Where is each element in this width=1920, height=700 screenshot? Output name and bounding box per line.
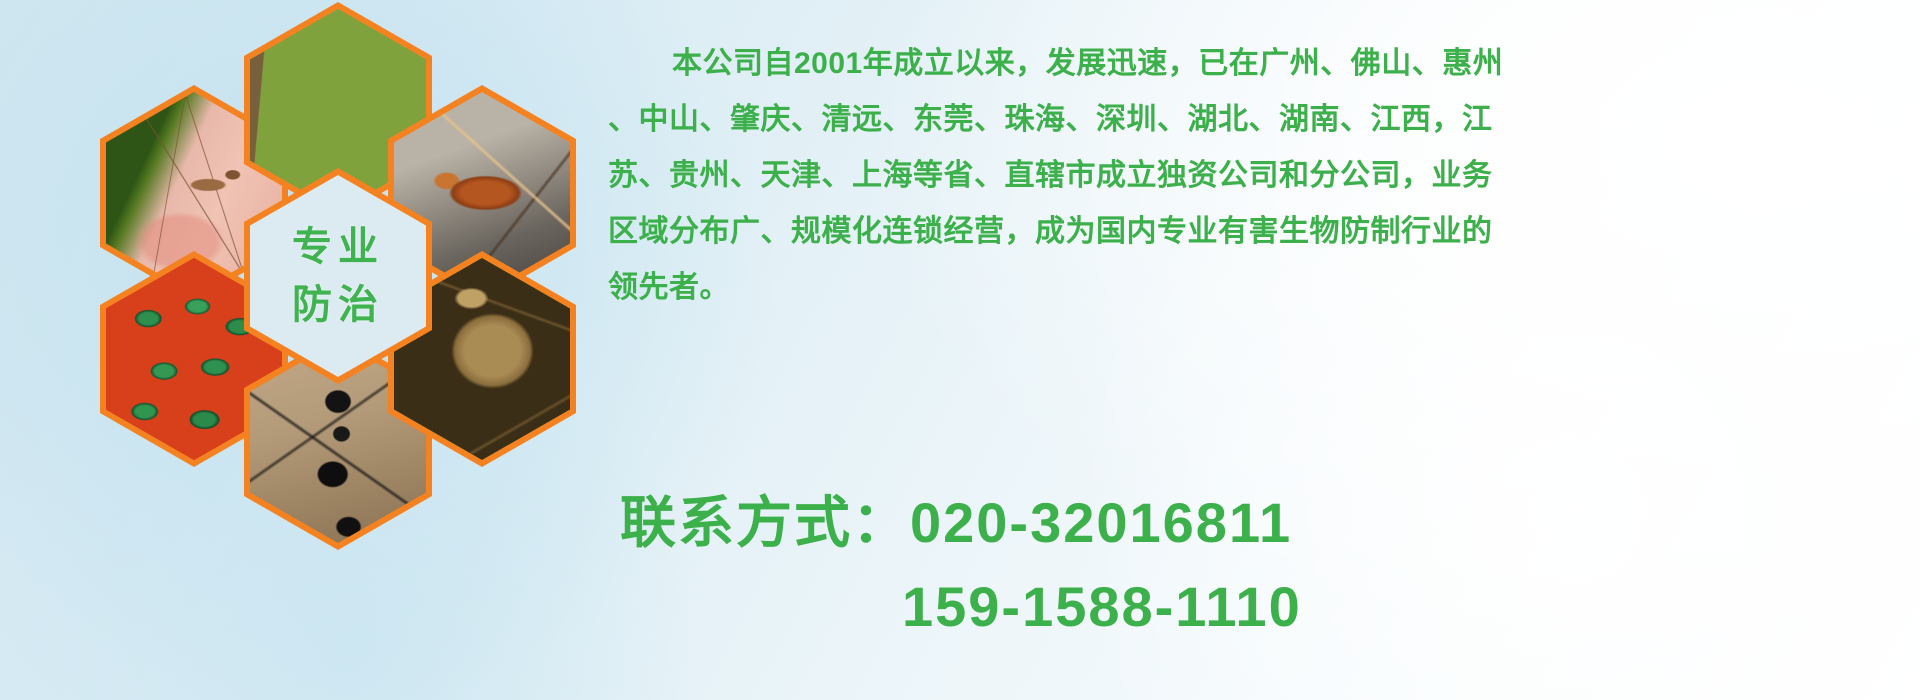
intro-line-1: 本公司自2001年成立以来，发展迅速，已在广州、佛山、惠州 (608, 36, 1908, 92)
contact-phone-primary[interactable]: 联系方式：020-32016811 (620, 488, 1302, 558)
contact-block: 联系方式：020-32016811 159-1588-1110 (620, 488, 1302, 642)
company-intro-paragraph: 本公司自2001年成立以来，发展迅速，已在广州、佛山、惠州 、中山、肇庆、清远、… (608, 36, 1908, 316)
contact-phone-secondary[interactable]: 159-1588-1110 (902, 572, 1302, 642)
promo-banner: 专业 防治 本公司自2001年成立以来，发展迅速，已在广州、佛山、惠州 、中山、… (0, 0, 1920, 700)
hexagon-photo-cluster: 专业 防治 (88, 0, 588, 566)
intro-line-4: 区域分布广、规模化连锁经营，成为国内专业有害生物防制行业的 (608, 204, 1908, 260)
intro-line-2: 、中山、肇庆、清远、东莞、珠海、深圳、湖北、湖南、江西，江 (608, 92, 1908, 148)
intro-line-5: 领先者。 (608, 260, 1908, 316)
intro-line-3: 苏、贵州、天津、上海等省、直辖市成立独资公司和分公司，业务 (608, 148, 1908, 204)
slogan-text: 专业 防治 (292, 218, 384, 334)
copy-column: 本公司自2001年成立以来，发展迅速，已在广州、佛山、惠州 、中山、肇庆、清远、… (608, 36, 1888, 316)
